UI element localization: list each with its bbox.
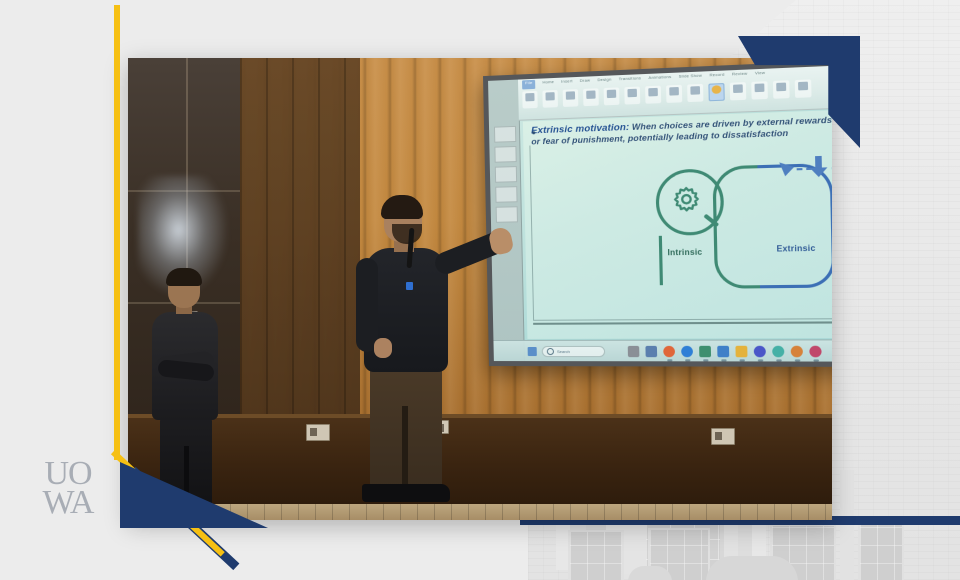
windows-taskbar[interactable]: Search <box>493 339 832 361</box>
logo-line-2: WA <box>43 487 94 518</box>
start-button-icon[interactable] <box>528 346 537 355</box>
dashed-connector <box>797 168 812 171</box>
taskbar-app-icons[interactable] <box>628 345 822 357</box>
gear-icon <box>670 183 702 215</box>
facade-window-4 <box>858 522 904 580</box>
presenter-beard <box>392 224 422 244</box>
current-slide[interactable]: Extrinsic motivation: When choices are d… <box>523 110 832 339</box>
ribbon-tab-draw[interactable]: Draw <box>580 77 591 87</box>
telegram-icon[interactable] <box>791 345 803 357</box>
quick-styles-icon[interactable] <box>666 85 682 103</box>
ribbon-tab-view[interactable]: View <box>755 70 765 80</box>
yellow-accent-line-vertical <box>114 5 120 460</box>
search-placeholder: Search <box>557 348 570 353</box>
label-extrinsic: Extrinsic <box>776 244 815 254</box>
motivation-diagram: Intrinsic Extrinsic <box>647 155 832 285</box>
shrub-small <box>628 566 672 580</box>
presenter-figure <box>340 198 510 504</box>
file-explorer-icon[interactable] <box>699 345 711 356</box>
wall-outlet <box>306 424 330 441</box>
media-player-icon[interactable] <box>809 345 821 357</box>
event-photo: File Home Insert Draw Design Transitions… <box>128 58 832 520</box>
ribbon-tab-animations[interactable]: Animations <box>648 74 671 84</box>
taskbar-search-box[interactable]: Search <box>542 345 606 356</box>
projected-display: File Home Insert Draw Design Transitions… <box>488 65 832 361</box>
presenter-shoe <box>398 484 450 502</box>
arrange-icon[interactable] <box>645 86 661 104</box>
firefox-icon[interactable] <box>663 345 675 356</box>
poster-canvas: File Home Insert Draw Design Transitions… <box>0 0 960 580</box>
ribbon-tab-home[interactable]: Home <box>542 79 554 89</box>
presenter-badge <box>406 282 413 290</box>
uowa-logo: UO WA <box>30 452 106 524</box>
shapes-icon[interactable] <box>624 87 640 105</box>
text-box-icon[interactable] <box>687 84 703 102</box>
widgets-icon[interactable] <box>628 345 640 356</box>
presenter-leg-gap <box>402 406 408 488</box>
facade-window-1 <box>568 530 624 580</box>
arrow-down-icon <box>807 155 830 179</box>
draw-pen-icon[interactable] <box>795 79 812 98</box>
ribbon-tab-file[interactable]: File <box>522 80 536 90</box>
addins-icon[interactable] <box>773 80 790 98</box>
ribbon-tab-record[interactable]: Record <box>709 72 724 82</box>
slide-baseline <box>533 321 832 324</box>
facade-column-2 <box>840 470 854 580</box>
settings-icon[interactable] <box>717 345 729 356</box>
folder-icon[interactable] <box>735 345 747 356</box>
presenter-left-arm <box>356 258 378 352</box>
ribbon-tab-insert[interactable]: Insert <box>561 78 573 88</box>
label-intrinsic: Intrinsic <box>667 247 702 257</box>
whatsapp-icon[interactable] <box>772 345 784 357</box>
new-slide-icon[interactable] <box>542 90 558 108</box>
intrinsic-stem <box>659 236 663 285</box>
shrub-large <box>706 556 798 580</box>
projection-screen-frame: File Home Insert Draw Design Transitions… <box>483 60 832 367</box>
layout-icon[interactable] <box>563 89 579 107</box>
paste-icon[interactable] <box>522 91 537 109</box>
edge-icon[interactable] <box>681 345 693 356</box>
head-profile-extrinsic <box>757 163 832 288</box>
font-icon[interactable] <box>583 88 599 106</box>
ribbon-tab-slideshow[interactable]: Slide Show <box>679 73 703 83</box>
task-view-icon[interactable] <box>645 345 657 356</box>
wall-outlet <box>711 428 735 445</box>
record-icon[interactable] <box>730 82 747 100</box>
from-beginning-icon[interactable] <box>751 81 768 99</box>
ribbon-tab-review[interactable]: Review <box>732 71 748 81</box>
presenter-hair <box>381 195 423 219</box>
presenter-left-hand <box>374 338 392 358</box>
attendee-hair <box>166 268 202 286</box>
paragraph-icon[interactable] <box>604 87 620 105</box>
ribbon-tab-design[interactable]: Design <box>597 77 611 87</box>
arrow-inward-left-icon <box>772 158 799 182</box>
ribbon-tab-transitions[interactable]: Transitions <box>619 75 642 85</box>
powerpoint-icon[interactable] <box>754 345 766 356</box>
search-icon <box>547 347 554 354</box>
designer-icon[interactable] <box>708 83 724 101</box>
